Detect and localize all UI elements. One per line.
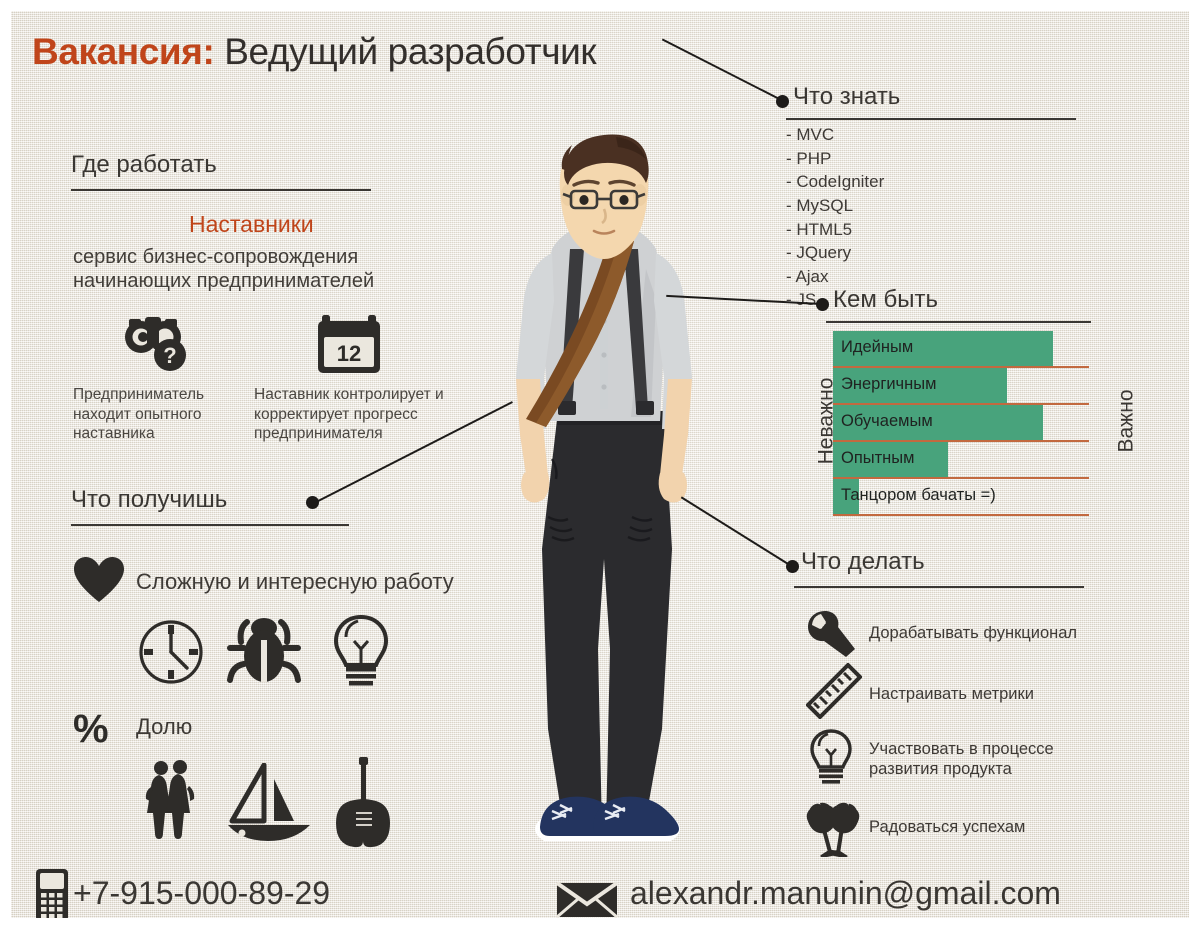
calendar-icon: 12 xyxy=(316,313,382,375)
section-rule-get xyxy=(71,524,349,526)
guitar-icon xyxy=(334,757,392,849)
section-rule-do xyxy=(794,586,1084,588)
feature-caption-1: Предприниматель находит опытного наставн… xyxy=(73,385,248,444)
chart-bar-label: Энергичным xyxy=(841,375,936,394)
task-label-1: Дорабатывать функционал xyxy=(869,623,1077,643)
chart-bar-row: Танцором бачаты =) xyxy=(833,479,1089,516)
section-heading-know: Что знать xyxy=(793,83,900,111)
page-title: Вакансия: Ведущий разработчик xyxy=(32,31,596,73)
chart-bar-label: Опытным xyxy=(841,449,915,468)
svg-text:?: ? xyxy=(163,343,176,368)
envelope-icon xyxy=(556,880,618,918)
chart-bar-label: Обучаемым xyxy=(841,412,933,431)
chart-axis-label-right: Важно xyxy=(1115,389,1139,452)
task-label-4: Радоваться успехам xyxy=(869,817,1025,837)
org-description-line1: сервис бизнес-сопровождения xyxy=(73,245,358,270)
chart-bar-label: Танцором бачаты =) xyxy=(841,486,996,505)
task-label-2: Настраивать метрики xyxy=(869,684,1034,704)
leader-line-know xyxy=(662,38,784,102)
poster-canvas: Вакансия: Ведущий разработчик xyxy=(11,11,1189,918)
mobile-phone-icon xyxy=(35,868,69,918)
section-heading-do: Что делать xyxy=(801,548,925,576)
skill-item: - CodeIgniter xyxy=(786,170,884,194)
chart-bar-row: Опытным xyxy=(833,442,1089,479)
sailboat-icon xyxy=(226,763,312,845)
heart-icon xyxy=(73,556,125,604)
skill-item: - PHP xyxy=(786,147,884,171)
clock-icon xyxy=(137,618,205,686)
binoculars-question-icon: ? xyxy=(123,313,195,375)
page-title-accent: Вакансия: xyxy=(32,31,214,72)
ruler-icon xyxy=(806,663,862,719)
section-heading-get: Что получишь xyxy=(71,486,227,514)
section-rule-bechart xyxy=(826,321,1091,323)
org-description-line2: начинающих предпринимателей xyxy=(73,269,374,294)
lightbulb-icon xyxy=(331,615,391,687)
task-label-3: Участвовать в процессе развития продукта xyxy=(869,739,1099,780)
skill-item: - JQuery xyxy=(786,241,884,265)
skill-list: - MVC - PHP - CodeIgniter - MySQL - HTML… xyxy=(786,123,884,312)
chart-bar-track xyxy=(833,514,1089,516)
section-rule-know xyxy=(786,118,1076,120)
task-label-3-text: Участвовать в процессе развития продукта xyxy=(869,740,1054,778)
org-name: Наставники xyxy=(189,211,314,238)
two-women-icon xyxy=(141,759,201,847)
section-heading-bechart: Кем быть xyxy=(833,286,938,314)
feature-caption-2: Наставник контролирует и корректирует пр… xyxy=(254,385,454,444)
chart-bar-label: Идейным xyxy=(841,338,913,357)
section-rule-where xyxy=(71,189,371,191)
percent-icon: % xyxy=(73,705,109,755)
chart-bar-row: Обучаемым xyxy=(833,405,1089,442)
infographic-poster: Вакансия: Ведущий разработчик xyxy=(0,0,1200,929)
champagne-glasses-icon xyxy=(806,801,862,857)
skill-item: - MVC xyxy=(786,123,884,147)
lightbulb-icon xyxy=(808,729,854,785)
section-heading-where: Где работать xyxy=(71,151,217,179)
phone-number[interactable]: +7-915-000-89-29 xyxy=(73,875,330,912)
share-label: Долю xyxy=(136,713,192,740)
wrench-icon xyxy=(806,609,858,659)
chart-bar-row: Идейным xyxy=(833,331,1089,368)
email-address[interactable]: alexandr.manunin@gmail.com xyxy=(630,875,1061,912)
bug-icon xyxy=(227,616,301,686)
skill-item: - HTML5 xyxy=(786,218,884,242)
benefit-main-label: Сложную и интересную работу xyxy=(136,568,454,595)
be-chart: Идейным Энергичным Обучаемым Опытным Тан xyxy=(833,331,1089,523)
calendar-day-number: 12 xyxy=(337,341,361,366)
page-title-rest: Ведущий разработчик xyxy=(224,31,596,72)
skill-item: - MySQL xyxy=(786,194,884,218)
chart-bar-row: Энергичным xyxy=(833,368,1089,405)
skill-item: - Ajax xyxy=(786,265,884,289)
developer-character-illustration xyxy=(466,129,756,841)
